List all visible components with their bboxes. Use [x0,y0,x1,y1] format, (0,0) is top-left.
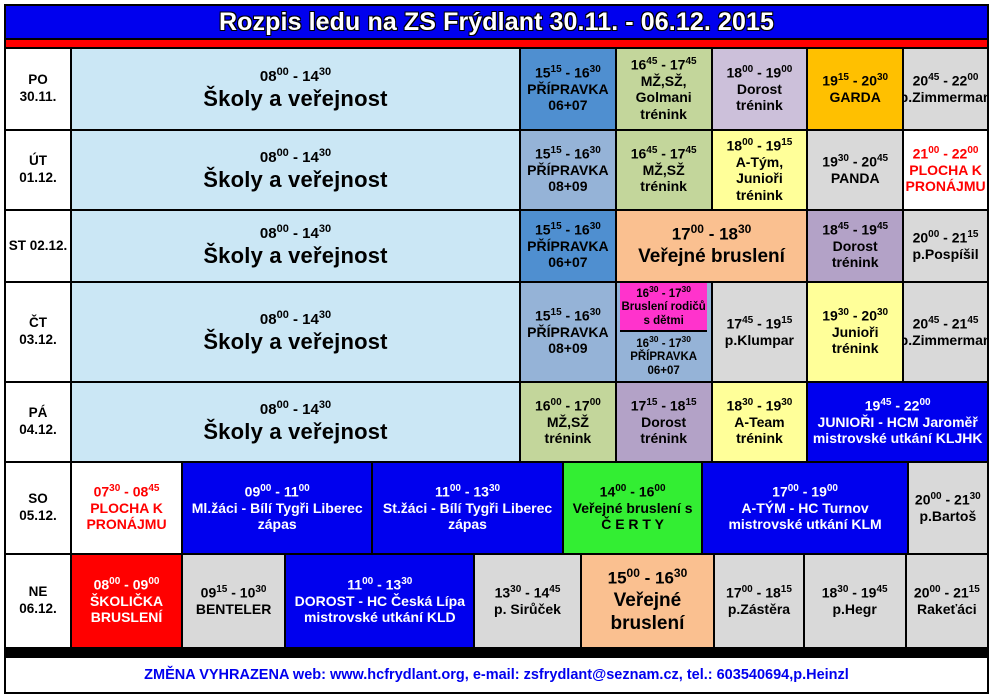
cell-description: Školy a veřejnost [203,243,387,269]
day-label-ne: NE06.12. [6,555,72,647]
cell-description: Školy a veřejnost [203,86,387,112]
day-label-line: 01.12. [19,170,57,187]
schedule-cell[interactable]: 1100 - 1330DOROST - HC Česká Lípamistrov… [286,555,475,647]
cell-description: Veřejné bruslení [638,246,785,268]
cell-description-line: Golmani [636,89,692,106]
day-label-line: PO [28,72,48,89]
schedule-cell[interactable]: 0800 - 1430Školy a veřejnost [72,283,521,381]
day-label-line: ČT [29,315,47,332]
schedule-cell[interactable]: 1945 - 2200JUNIOŘI - HCM Jaroměřmistrovs… [808,383,987,461]
cell-time: 1830 - 1945 [822,584,888,601]
cell-time: 0800 - 1430 [260,66,331,85]
cell-description: Bruslení rodičůs dětmi [621,301,705,328]
cell-description: PŘÍPRAVKA08+09 [527,162,608,195]
cell-time: 0915 - 1030 [201,584,267,601]
cell-description-line: Školy a veřejnost [203,86,387,112]
cell-time: 1830 - 1930 [727,397,793,414]
cell-time: 1630 - 1730 [636,335,691,351]
schedule-row-pa: PÁ04.12.0800 - 1430Školy a veřejnost1600… [6,383,987,463]
cell-description: PŘÍPRAVKA06+07 [527,238,608,271]
schedule-row-ct: ČT03.12.0800 - 1430Školy a veřejnost1515… [6,283,987,383]
cell-time: 2045 - 2145 [913,315,979,332]
cell-description-line: Veřejné bruslení [638,246,785,268]
cell-description: p.Klumpar [725,332,794,349]
cell-description-line: s dětmi [621,315,705,329]
cell-time: 2000 - 2130 [915,491,981,508]
cell-time: 1515 - 1630 [535,145,601,162]
day-label-st: ST 02.12. [6,211,72,281]
schedule-cell[interactable]: 1700 - 1815p.Zástěra [715,555,804,647]
cell-description-line: p.Zimmerman [904,89,987,106]
cell-description-line: Č E R T Y [573,516,693,533]
cell-description-line: trénink [736,187,783,204]
day-label-line: 04.12. [19,422,57,439]
cell-description-line: Veřejné bruslení s [573,500,693,517]
cell-description: JUNIOŘI - HCM Jaroměřmistrovské utkání K… [813,414,983,447]
cell-time: 1630 - 1730 [636,285,691,301]
day-label-line: ÚT [29,153,47,170]
schedule-cell[interactable]: 0800 - 0900ŠKOLIČKABRUSLENÍ [72,555,183,647]
cell-time: 0800 - 1430 [260,147,331,166]
cell-time: 1715 - 1815 [631,397,697,414]
cell-description: PANDA [831,170,880,187]
cell-time: 1945 - 2200 [865,397,931,414]
cell-description-line: Školy a veřejnost [203,329,387,355]
schedule-subcell-top[interactable]: 1630 - 1730Bruslení rodičůs dětmi [620,283,706,332]
cell-description: MŽ,SŽtrénink [545,414,592,447]
cell-description: MŽ,SŽ,Golmanitrénink [636,73,692,123]
day-label-po: PO30.11. [6,49,72,129]
cell-description-line: PRONÁJMU [86,516,166,533]
cell-time: 1700 - 1830 [672,223,752,244]
cell-time: 0800 - 0900 [94,576,160,593]
cell-description-line: Školy a veřejnost [203,243,387,269]
cell-description-line: zápas [192,516,363,533]
cell-description-line: trénink [636,106,692,123]
cell-time: 1515 - 1630 [535,307,601,324]
schedule-cell[interactable]: 1630 - 1730Bruslení rodičůs dětmi1630 - … [617,283,713,381]
schedule-row-ut: ÚT01.12.0800 - 1430Školy a veřejnost1515… [6,131,987,211]
cell-time: 1845 - 1945 [822,221,888,238]
day-label-line: 03.12. [19,332,57,349]
cell-description-line: Junioři [832,324,879,341]
schedule-cell[interactable]: 1700 - 1830Veřejné bruslení [617,211,808,281]
cell-description: Veřejnébruslení [610,590,684,635]
cell-time: 1515 - 1630 [535,64,601,81]
cell-description: GARDA [830,89,881,106]
cell-description-line: GARDA [830,89,881,106]
cell-description-line: trénink [640,178,687,195]
day-label-ct: ČT03.12. [6,283,72,381]
schedule-cell[interactable]: 1515 - 1630PŘÍPRAVKA06+07 [521,211,617,281]
cell-description-line: mistrovské utkání KLJHK [813,430,983,447]
cell-description-line: bruslení [610,613,684,635]
cell-description-line: trénink [832,340,879,357]
cell-description-line: Rakeťáci [917,601,977,618]
cell-time: 1930 - 2045 [822,153,888,170]
cell-description: A-Tým,Juniořitrénink [736,154,783,204]
cell-time: 1500 - 1630 [608,567,688,588]
cell-description: ŠKOLIČKABRUSLENÍ [90,593,163,626]
cell-description-line: trénink [736,97,783,114]
schedule-cell[interactable]: 2045 - 2200p.Zimmerman [904,49,987,129]
schedule-cell[interactable]: 1515 - 1630PŘÍPRAVKA06+07 [521,49,617,129]
schedule-cell[interactable]: 1645 - 1745MŽ,SŽ,Golmanitrénink [617,49,713,129]
cell-description-line: PŘÍPRAVKA [527,324,608,341]
cell-description: PŘÍPRAVKA08+09 [527,324,608,357]
cell-time: 1600 - 1700 [535,397,601,414]
accent-bar [4,40,989,49]
cell-description-line: Školy a veřejnost [203,167,387,193]
cell-time: 1930 - 2030 [822,307,888,324]
cell-description: A-Teamtrénink [734,414,784,447]
cell-description-line: PLOCHA K [86,500,166,517]
cell-description-line: p.Zimmerman [904,332,987,349]
cell-description: A-TÝM - HC Turnovmistrovské utkání KLM [728,500,881,533]
schedule-cell[interactable]: 1915 - 2030GARDA [808,49,904,129]
cell-description-line: mistrovské utkání KLM [728,516,881,533]
cell-description: p.Zimmerman [904,332,987,349]
cell-description: p.Hegr [832,601,876,618]
cell-time: 1745 - 1915 [726,315,792,332]
day-label-pa: PÁ04.12. [6,383,72,461]
cell-description: Veřejné bruslení sČ E R T Y [573,500,693,533]
cell-time: 1915 - 2030 [822,72,888,89]
cell-description-line: JUNIOŘI - HCM Jaroměř [813,414,983,431]
cell-time: 0800 - 1430 [260,399,331,418]
cell-description-line: trénink [545,430,592,447]
schedule-page: Rozpis ledu na ZS Frýdlant 30.11. - 06.1… [0,0,993,694]
cell-description: Školy a veřejnost [203,419,387,445]
schedule-cell[interactable]: 1800 - 1900Dorosttrénink [713,49,809,129]
schedule-cell[interactable]: 2045 - 2145p.Zimmerman [904,283,987,381]
cell-time: 1800 - 1900 [727,64,793,81]
cell-description-line: DOROST - HC Česká Lípa [295,593,465,610]
cell-description-line: MŽ,SŽ [545,414,592,431]
day-label-so: SO05.12. [6,463,72,553]
schedule-cell[interactable]: 0730 - 0845PLOCHA KPRONÁJMU [72,463,183,553]
cell-description: PŘÍPRAVKA06+07 [527,81,608,114]
cell-description: Dorosttrénink [736,81,783,114]
cell-description-line: PANDA [831,170,880,187]
schedule-cell[interactable]: 1745 - 1915p.Klumpar [713,283,809,381]
schedule-row-so: SO05.12.0730 - 0845PLOCHA KPRONÁJMU0900 … [6,463,987,555]
schedule-cell[interactable]: 1930 - 2030Juniořitrénink [808,283,904,381]
cell-description-line: A-Team [734,414,784,431]
cell-description-line: PŘÍPRAVKA [527,81,608,98]
cell-description-line: zápas [383,516,552,533]
cell-time: 1645 - 1745 [631,145,697,162]
schedule-cell[interactable]: 1700 - 1900A-TÝM - HC Turnovmistrovské u… [703,463,908,553]
schedule-cell[interactable]: 1600 - 1700MŽ,SŽtrénink [521,383,617,461]
cell-time: 1800 - 1915 [727,137,793,154]
cell-time: 1100 - 1330 [347,576,412,593]
cell-description-line: ŠKOLIČKA [90,593,163,610]
schedule-cell[interactable]: 1645 - 1745MŽ,SŽtrénink [617,131,713,209]
cell-description: Rakeťáci [917,601,977,618]
cell-description: PLOCHA KPRONÁJMU [906,162,986,195]
schedule-cell[interactable]: 1800 - 1915A-Tým,Juniořitrénink [713,131,809,209]
cell-description: Ml.žáci - Bílí Tygři Libereczápas [192,500,363,533]
cell-description: Školy a veřejnost [203,167,387,193]
cell-description: Dorosttrénink [832,238,879,271]
cell-time: 2000 - 2115 [914,584,980,601]
schedule-cell[interactable]: 1500 - 1630Veřejnébruslení [582,555,716,647]
cell-description-line: p.Bartoš [919,508,976,525]
cell-description-line: Školy a veřejnost [203,419,387,445]
day-label-line: 30.11. [20,89,57,106]
schedule-cell[interactable]: 1930 - 2045PANDA [808,131,904,209]
schedule-cell[interactable]: 0900 - 1100Ml.žáci - Bílí Tygři Liberecz… [183,463,373,553]
day-label-line: SO [28,491,48,508]
cell-description: MŽ,SŽtrénink [640,162,687,195]
cell-description-line: St.žáci - Bílí Tygři Liberec [383,500,552,517]
cell-time: 1700 - 1815 [726,584,792,601]
cell-description-line: p.Pospíšil [912,246,978,263]
cell-description: BENTELER [196,601,271,618]
cell-description-line: A-Tým, [736,154,783,171]
cell-description-line: trénink [734,430,784,447]
cell-description-line: 06+07 [527,97,608,114]
cell-time: 2100 - 2200 [913,145,979,162]
schedule-cell[interactable]: 0800 - 1430Školy a veřejnost [72,383,521,461]
schedule-cell[interactable]: 2100 - 2200PLOCHA KPRONÁJMU [904,131,987,209]
cell-description-line: 06+07 [527,254,608,271]
cell-description-line: 06+07 [630,365,697,379]
cell-time: 1330 - 1445 [495,584,561,601]
schedule-cell[interactable]: 1400 - 1600Veřejné bruslení sČ E R T Y [564,463,704,553]
day-label-ut: ÚT01.12. [6,131,72,209]
cell-description-line: p.Zástěra [728,601,790,618]
schedule-cell[interactable]: 0800 - 1430Školy a veřejnost [72,49,521,129]
schedule-grid: PO30.11.0800 - 1430Školy a veřejnost1515… [4,49,989,658]
cell-description: p.Zimmerman [904,89,987,106]
cell-description: DOROST - HC Česká Lípamistrovské utkání … [295,593,465,626]
cell-description-line: MŽ,SŽ, [636,73,692,90]
cell-description-line: trénink [640,430,687,447]
cell-description-line: trénink [832,254,879,271]
schedule-cell[interactable]: 1715 - 1815Dorosttrénink [617,383,713,461]
cell-description-line: A-TÝM - HC Turnov [728,500,881,517]
cell-description: Školy a veřejnost [203,329,387,355]
schedule-cell[interactable]: 0800 - 1430Školy a veřejnost [72,211,521,281]
cell-description-line: Dorost [832,238,879,255]
page-title-bar: Rozpis ledu na ZS Frýdlant 30.11. - 06.1… [4,4,989,40]
cell-time: 1400 - 1600 [600,483,666,500]
cell-description-line: MŽ,SŽ [640,162,687,179]
cell-description: PŘÍPRAVKA06+07 [630,351,697,378]
cell-description: p.Bartoš [919,508,976,525]
cell-time: 0800 - 1430 [260,223,331,242]
schedule-cell[interactable]: 2000 - 2115p.Pospíšil [904,211,987,281]
cell-description-line: Veřejné [610,590,684,612]
cell-time: 0900 - 1100 [245,483,310,500]
schedule-subcell-bottom[interactable]: 1630 - 1730PŘÍPRAVKA06+07 [629,332,698,381]
cell-description: p. Sirůček [494,601,561,618]
schedule-cell[interactable]: 1515 - 1630PŘÍPRAVKA08+09 [521,131,617,209]
cell-description: p.Zástěra [728,601,790,618]
cell-time: 1645 - 1745 [631,56,697,73]
day-label-line: 06.12. [19,601,57,618]
cell-description-line: PLOCHA K [906,162,986,179]
schedule-cell[interactable]: 0915 - 1030BENTELER [183,555,286,647]
cell-time: 1100 - 1330 [435,483,500,500]
footer-text: ZMĚNA VYHRAZENA web: www.hcfrydlant.org,… [144,667,849,683]
cell-description-line: p.Hegr [832,601,876,618]
cell-description-line: PRONÁJMU [906,178,986,195]
cell-description-line: BRUSLENÍ [90,609,163,626]
cell-description-line: 08+09 [527,340,608,357]
schedule-cell[interactable]: 2000 - 2130p.Bartoš [909,463,987,553]
cell-description: PLOCHA KPRONÁJMU [86,500,166,533]
cell-description-line: Ml.žáci - Bílí Tygři Liberec [192,500,363,517]
cell-description-line: Bruslení rodičů [621,301,705,315]
schedule-cell[interactable]: 1100 - 1330St.žáci - Bílí Tygři Liberecz… [373,463,563,553]
page-title: Rozpis ledu na ZS Frýdlant 30.11. - 06.1… [219,8,774,37]
cell-description-line: PŘÍPRAVKA [527,238,608,255]
cell-time: 2045 - 2200 [913,72,979,89]
cell-description-line: Junioři [736,170,783,187]
cell-description-line: Dorost [736,81,783,98]
cell-description-line: p.Klumpar [725,332,794,349]
schedule-row-po: PO30.11.0800 - 1430Školy a veřejnost1515… [6,49,987,131]
schedule-cell[interactable]: 1830 - 1945p.Hegr [805,555,907,647]
cell-description-line: BENTELER [196,601,271,618]
schedule-cell[interactable]: 2000 - 2115Rakeťáci [907,555,987,647]
cell-time: 2000 - 2115 [913,229,979,246]
schedule-cell[interactable]: 1515 - 1630PŘÍPRAVKA08+09 [521,283,617,381]
cell-time: 1515 - 1630 [535,221,601,238]
cell-description: Dorosttrénink [640,414,687,447]
cell-description: Juniořitrénink [832,324,879,357]
schedule-cell[interactable]: 1330 - 1445p. Sirůček [475,555,581,647]
day-label-line: PÁ [29,405,48,422]
cell-description-line: mistrovské utkání KLD [295,609,465,626]
cell-description-line: p. Sirůček [494,601,561,618]
cell-description: St.žáci - Bílí Tygři Libereczápas [383,500,552,533]
cell-description-line: PŘÍPRAVKA [630,351,697,365]
schedule-cell[interactable]: 0800 - 1430Školy a veřejnost [72,131,521,209]
cell-time: 1700 - 1900 [772,483,838,500]
day-label-line: NE [29,584,48,601]
cell-description: p.Pospíšil [912,246,978,263]
schedule-row-st: ST 02.12.0800 - 1430Školy a veřejnost151… [6,211,987,283]
cell-time: 0800 - 1430 [260,309,331,328]
cell-description-line: Dorost [640,414,687,431]
cell-description-line: 08+09 [527,178,608,195]
footer: ZMĚNA VYHRAZENA web: www.hcfrydlant.org,… [4,658,989,694]
schedule-cell[interactable]: 1845 - 1945Dorosttrénink [808,211,904,281]
schedule-row-ne: NE06.12.0800 - 0900ŠKOLIČKABRUSLENÍ0915 … [6,555,987,647]
day-label-line: 05.12. [19,508,57,525]
schedule-cell[interactable]: 1830 - 1930A-Teamtrénink [713,383,809,461]
cell-description-line: PŘÍPRAVKA [527,162,608,179]
day-label-line: ST 02.12. [9,238,68,255]
cell-time: 0730 - 0845 [94,483,160,500]
